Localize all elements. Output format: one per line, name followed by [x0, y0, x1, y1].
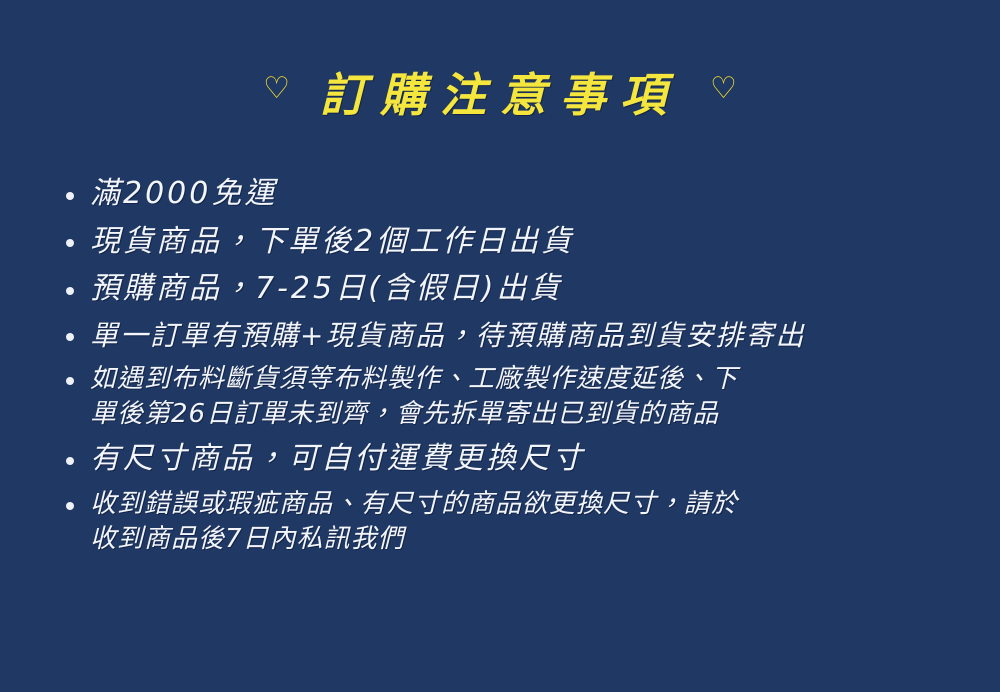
notice-line: 收到錯誤或瑕疵商品、有尺寸的商品欲更換尺寸，請於 — [90, 489, 952, 521]
heart-icon-right: ♡ — [710, 74, 737, 104]
notice-line: 滿2000免運 — [90, 176, 952, 213]
list-item: 有尺寸商品，可自付運費更換尺寸 — [62, 441, 952, 478]
notice-line: 現貨商品，下單後2個工作日出貨 — [90, 224, 952, 261]
list-item: 預購商品，7-25日(含假日)出貨 — [62, 271, 952, 308]
heart-icon-left: ♡ — [263, 74, 290, 104]
list-item: 如遇到布料斷貨須等布料製作、工廠製作速度延後、下 單後第26日訂單未到齊，會先拆… — [62, 364, 952, 430]
list-item: 收到錯誤或瑕疵商品、有尺寸的商品欲更換尺寸，請於 收到商品後7日內私訊我們 — [62, 489, 952, 555]
list-item: 現貨商品，下單後2個工作日出貨 — [62, 224, 952, 261]
page-title-text: 訂購注意事項 — [320, 72, 680, 118]
notice-line: 收到商品後7日內私訊我們 — [90, 524, 952, 556]
notice-line: 有尺寸商品，可自付運費更換尺寸 — [90, 441, 952, 478]
notice-line: 單後第26日訂單未到齊，會先拆單寄出已到貨的商品 — [90, 399, 952, 431]
list-item: 單一訂單有預購+現貨商品，待預購商品到貨安排寄出 — [62, 319, 952, 353]
list-item: 滿2000免運 — [62, 176, 952, 213]
notice-poster: ♡訂購注意事項♡ 滿2000免運 現貨商品，下單後2個工作日出貨 預購商品，7-… — [0, 0, 1000, 692]
notice-line: 預購商品，7-25日(含假日)出貨 — [90, 271, 952, 308]
notice-line: 如遇到布料斷貨須等布料製作、工廠製作速度延後、下 — [90, 364, 952, 396]
notice-list: 滿2000免運 現貨商品，下單後2個工作日出貨 預購商品，7-25日(含假日)出… — [62, 176, 952, 566]
notice-line: 單一訂單有預購+現貨商品，待預購商品到貨安排寄出 — [90, 319, 952, 353]
page-title: ♡訂購注意事項♡ — [0, 72, 1000, 118]
